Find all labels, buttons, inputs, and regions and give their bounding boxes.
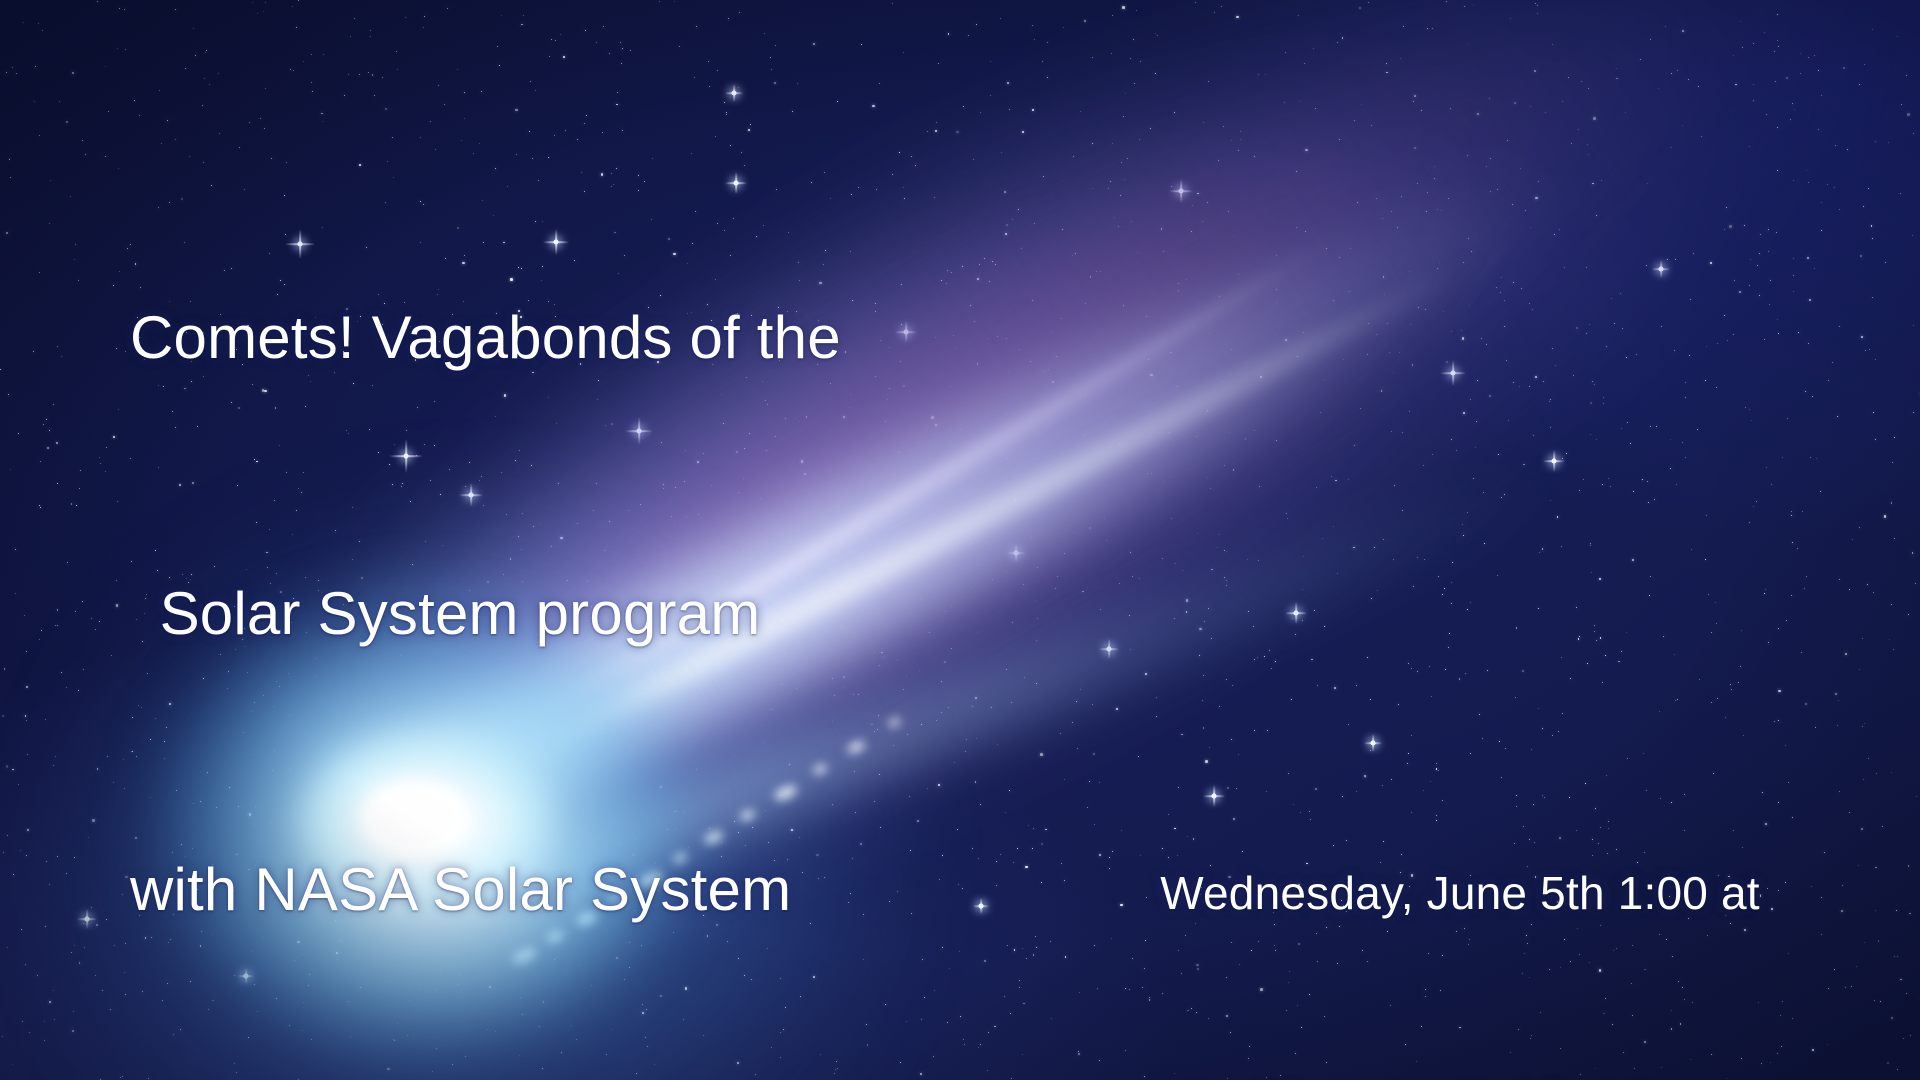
- title-line-1: Comets! Vagabonds of the: [130, 292, 790, 384]
- event-poster: Comets! Vagabonds of the Solar System pr…: [0, 0, 1920, 1080]
- title-line-3: with NASA Solar System: [130, 844, 790, 936]
- event-venue-line: the Hiawatha Public Library: [1160, 1068, 1760, 1080]
- event-datetime-line: Wednesday, June 5th 1:00 at: [1160, 858, 1760, 928]
- poster-title: Comets! Vagabonds of the Solar System pr…: [130, 108, 790, 1080]
- title-line-2: Solar System program: [130, 568, 790, 660]
- event-details: Wednesday, June 5th 1:00 at the Hiawatha…: [1160, 718, 1760, 1080]
